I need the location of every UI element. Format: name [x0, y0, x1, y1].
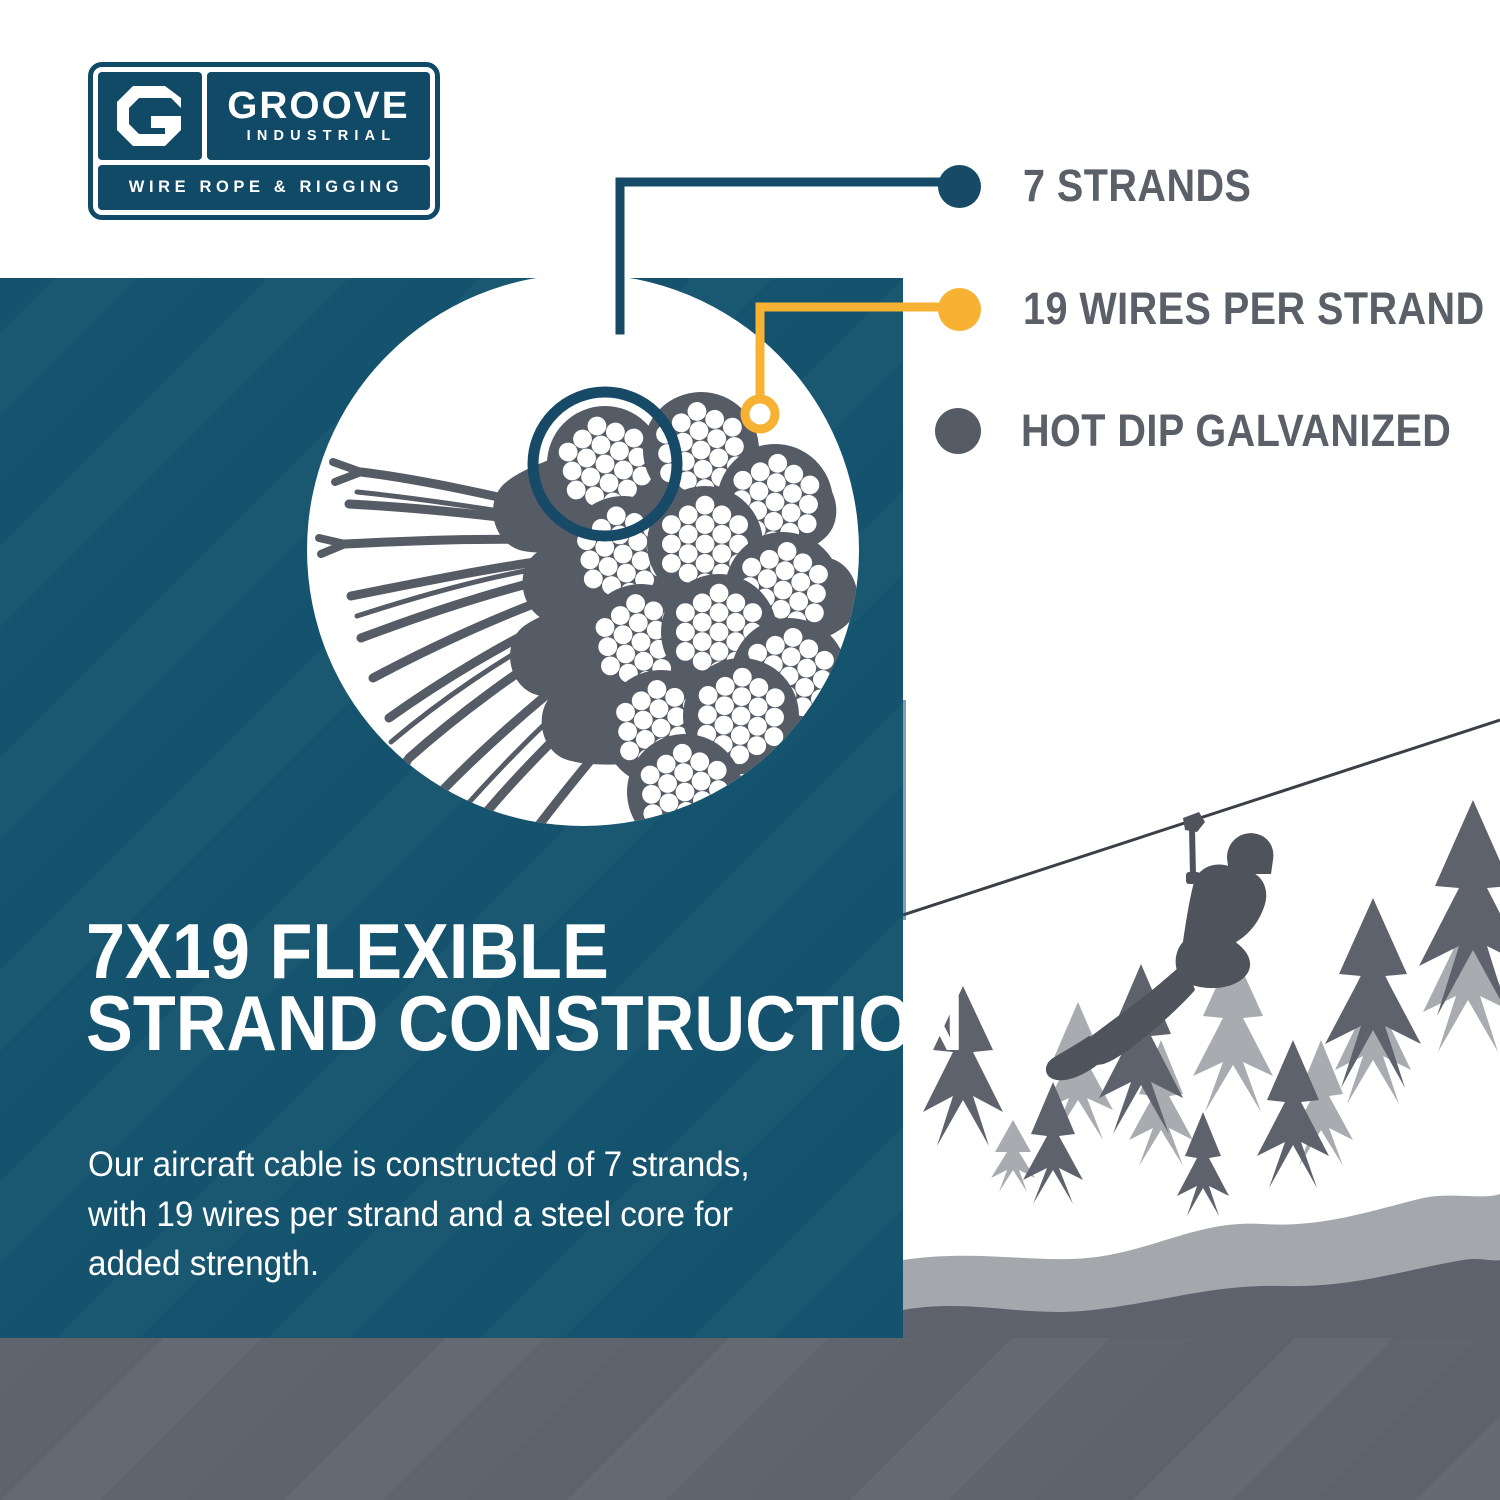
g-monogram-svg	[115, 84, 185, 148]
callout-19-wires-per-strand[interactable]: 19 WIRES PER STRAND	[938, 283, 1500, 335]
callout-dot-navy-icon	[938, 165, 981, 208]
body-copy: Our aircraft cable is constructed of 7 s…	[88, 1140, 753, 1289]
callout-7-strands[interactable]: 7 STRANDS	[938, 160, 1283, 212]
callout-label: HOT DIP GALVANIZED	[1021, 405, 1451, 457]
callout-label: 19 WIRES PER STRAND	[1023, 283, 1485, 335]
infographic-canvas: 7 STRANDS 19 WIRES PER STRAND HOT DIP GA…	[0, 0, 1500, 1500]
groove-g-monogram-icon	[98, 72, 202, 160]
brand-name-primary: GROOVE	[227, 88, 409, 124]
cable-illustration	[305, 272, 861, 828]
page-title: 7X19 FLEXIBLE STRAND CONSTRUCTION	[86, 916, 797, 1060]
bottom-gray-band	[0, 1338, 1500, 1500]
band-texture	[0, 1338, 1500, 1500]
callout-label: 7 STRANDS	[1023, 160, 1251, 212]
callout-dot-gray-icon	[935, 408, 981, 454]
headline-line-1: 7X19 FLEXIBLE	[86, 916, 797, 988]
wire-rope-cross-section-svg	[305, 272, 861, 828]
callout-hot-dip-galvanized[interactable]: HOT DIP GALVANIZED	[935, 405, 1500, 457]
brand-tagline: WIRE ROPE & RIGGING	[125, 178, 403, 197]
zipline-photo	[903, 700, 1500, 1338]
callout-dot-orange-icon	[938, 288, 981, 331]
brand-logo[interactable]: GROOVE INDUSTRIAL WIRE ROPE & RIGGING	[88, 62, 440, 220]
headline-line-2: STRAND CONSTRUCTION	[86, 988, 797, 1060]
zipline-scene-svg	[903, 700, 1500, 1338]
brand-name-secondary: INDUSTRIAL	[241, 128, 397, 144]
right-white-fill	[903, 278, 1500, 700]
